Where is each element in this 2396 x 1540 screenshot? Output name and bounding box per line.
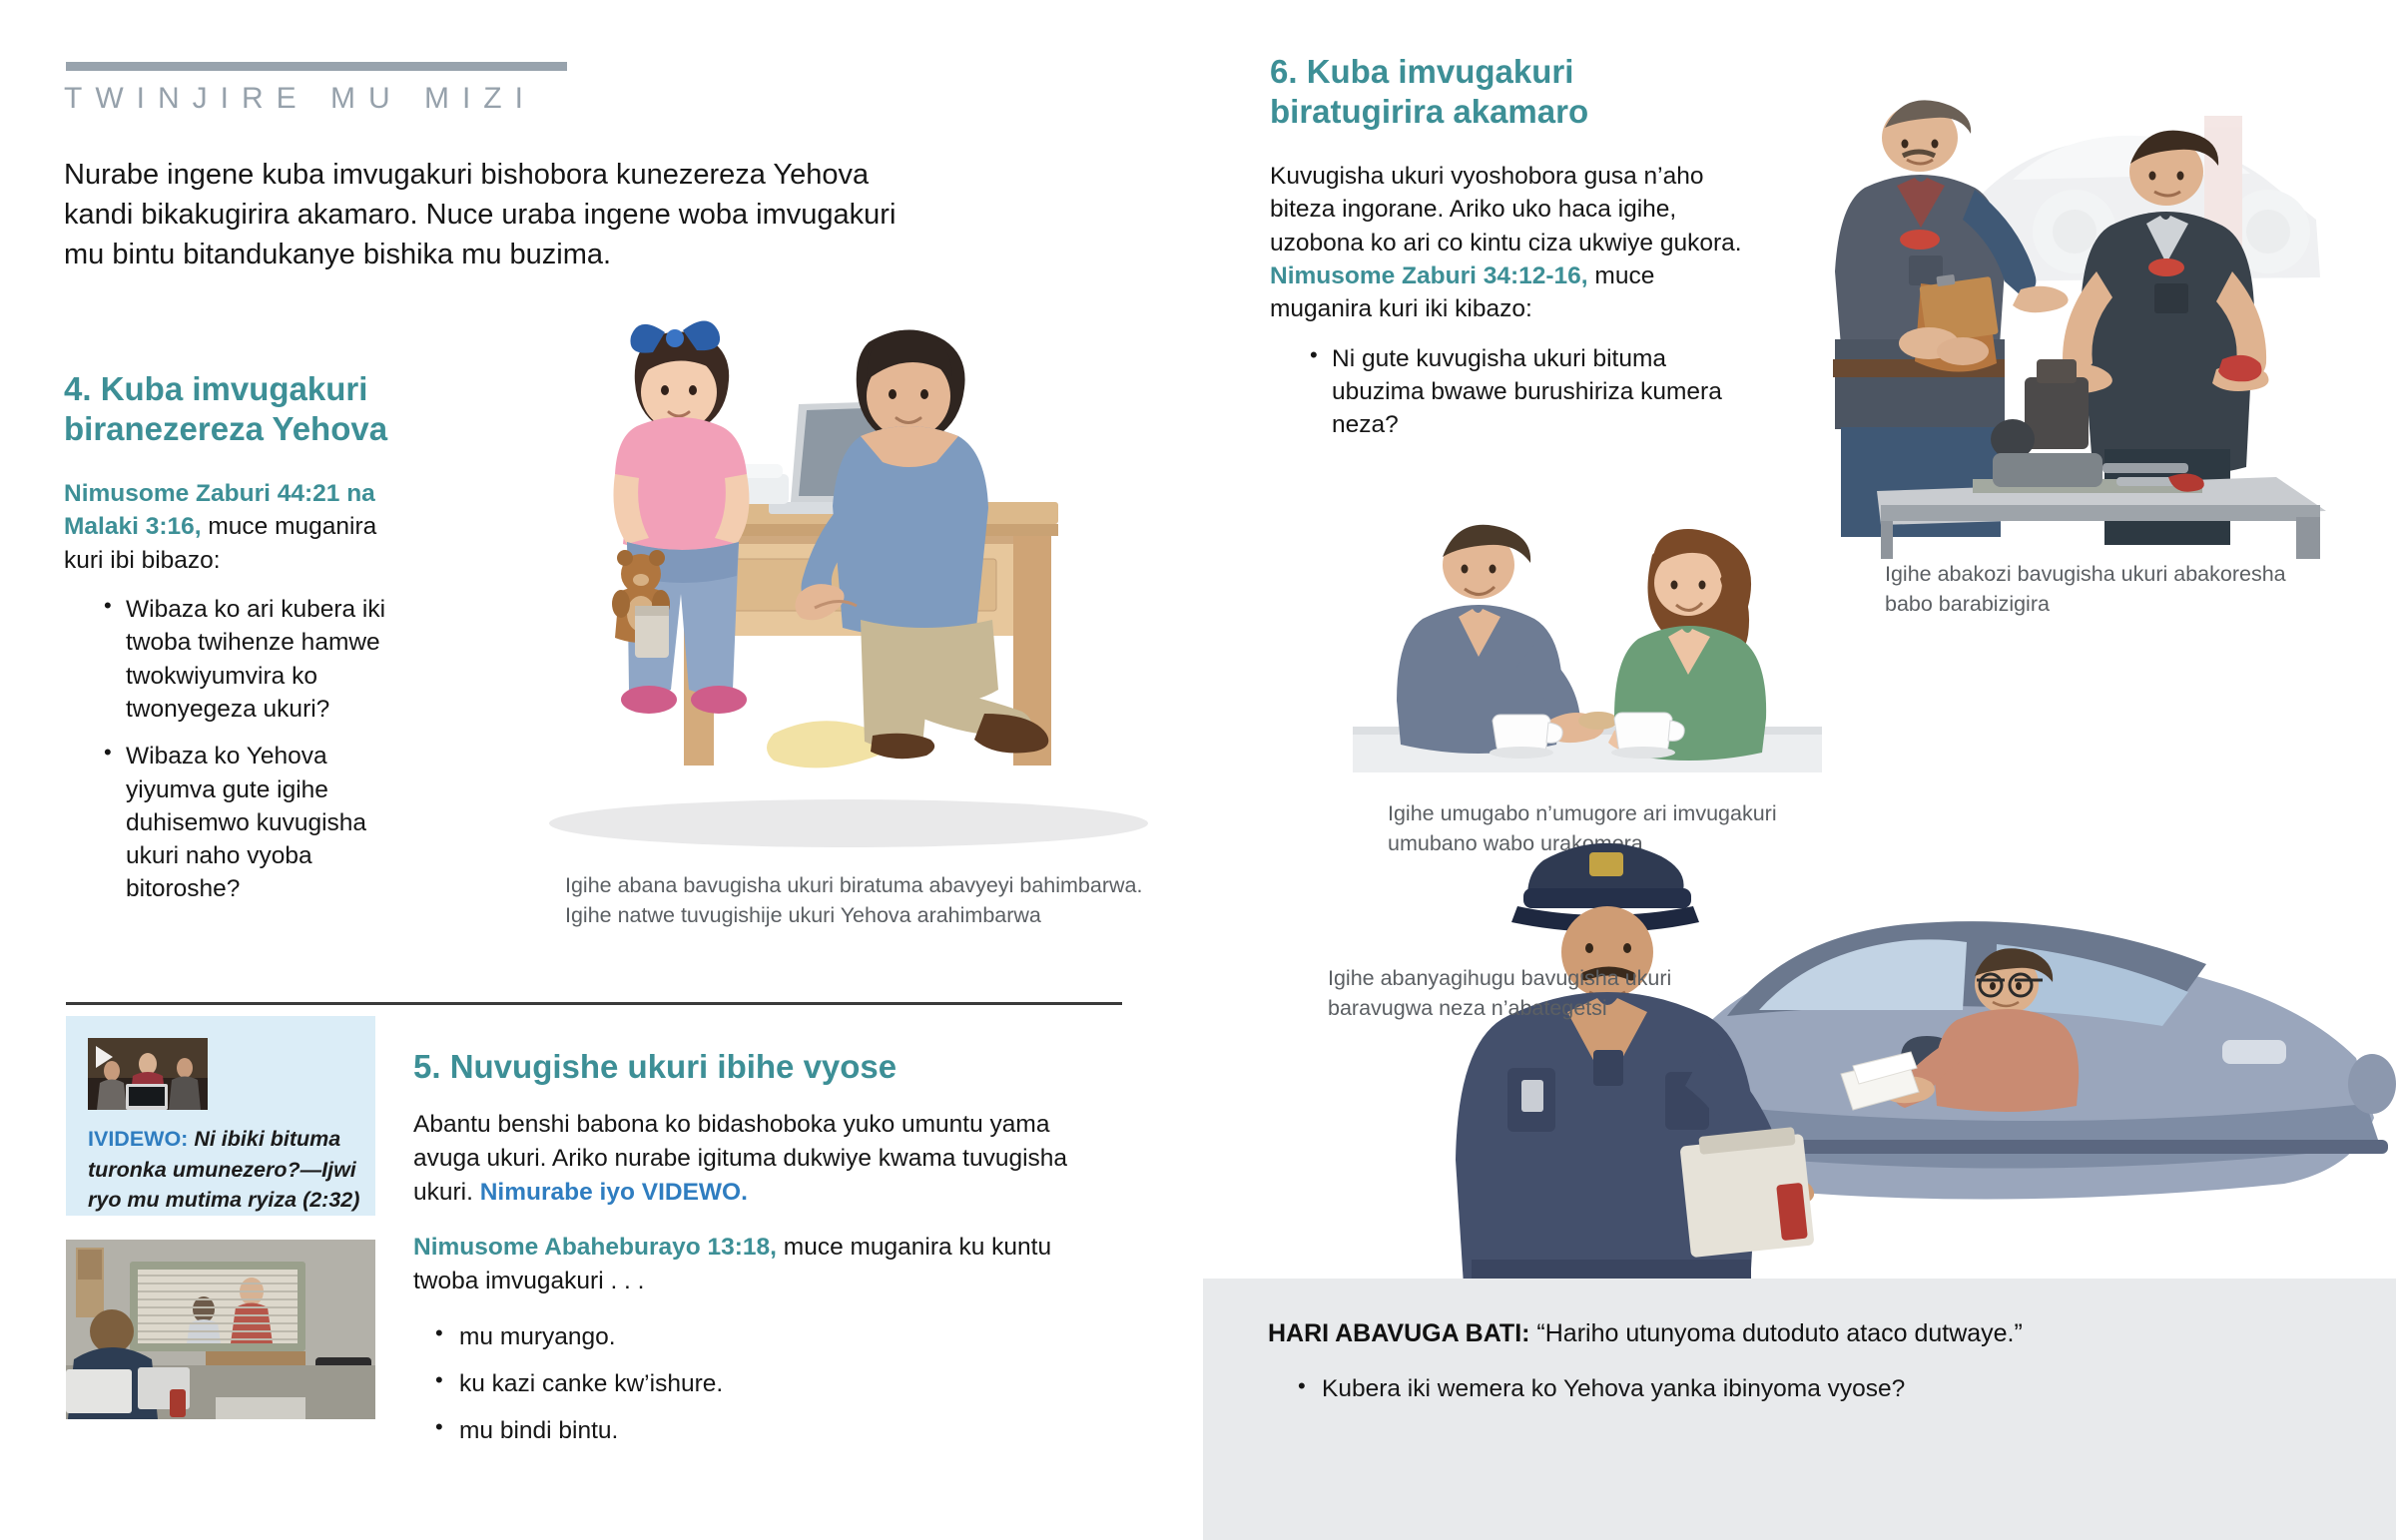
page-root: TWINJIRE MU MIZI Nurabe ingene kuba imvu… — [0, 0, 2396, 1540]
video-label: IVIDEWO: — [88, 1127, 188, 1151]
section-4-heading: 4. Kuba imvugakuri biranezereza Yehova — [64, 369, 413, 450]
objection-heading: HARI ABAVUGA BATI: “Hariho utunyoma duto… — [1268, 1319, 2346, 1348]
section-6-text-a: Kuvugisha ukuri vyoshobora gusa n’aho bi… — [1270, 163, 1742, 257]
kicker-rule — [66, 62, 567, 71]
illustration-child-and-father — [469, 225, 1168, 863]
list-item: ku kazi canke kw’ishure. — [435, 1367, 1122, 1401]
illustration-couple-at-table — [1353, 499, 1832, 778]
section-5-paragraph-2: Nimusome Abaheburayo 13:18, muce muganir… — [413, 1231, 1122, 1298]
illustration-police-and-driver — [1368, 788, 2396, 1307]
section-6-heading: 6. Kuba imvugakuri biratugirira akamaro — [1270, 52, 1649, 133]
caption-children-truth: Igihe abana bavugisha ukuri biratuma aba… — [565, 870, 1184, 930]
page-kicker: TWINJIRE MU MIZI — [64, 82, 536, 116]
section-divider — [66, 1002, 1122, 1005]
section-6-question-list: Ni gute kuvugisha ukuri bituma ubuzima b… — [1270, 342, 1749, 442]
list-item: Wibaza ko ari kubera iki twoba twihenze … — [104, 593, 403, 726]
list-item: Ni gute kuvugisha ukuri bituma ubuzima b… — [1310, 342, 1749, 442]
list-item: Kubera iki wemera ko Yehova yanka ibinyo… — [1298, 1375, 2346, 1403]
illustration-mechanics — [1817, 60, 2396, 559]
section-4-question-list: Wibaza ko ari kubera iki twoba twihenze … — [64, 593, 403, 906]
caption-employees-truth: Igihe abakozi bavugisha ukuri abakoresha… — [1885, 559, 2304, 619]
objection-list: Kubera iki wemera ko Yehova yanka ibinyo… — [1298, 1375, 2346, 1403]
section-5-paragraph-1: Abantu benshi babona ko bidashoboka yuko… — [413, 1108, 1122, 1209]
section-4-body: Nimusome Zaburi 44:21 na Malaki 3:16, mu… — [64, 477, 403, 920]
video-thumbnail[interactable] — [88, 1038, 208, 1110]
video-callout-box[interactable]: IVIDEWO: Ni ibiki bituma turonka umuneze… — [66, 1016, 375, 1216]
caption-citizens-truth: Igihe abanyagihugu bavugisha ukuri barav… — [1328, 963, 1757, 1023]
section-5-item-list: mu muryango. ku kazi canke kw’ishure. mu… — [413, 1320, 1122, 1447]
section-6-body: Kuvugisha ukuri vyoshobora gusa n’aho bi… — [1270, 160, 1749, 456]
play-icon — [96, 1046, 113, 1068]
video-still-office — [66, 1240, 375, 1419]
section-5-video-link[interactable]: Nimurabe iyo VIDEWO. — [480, 1179, 748, 1206]
video-caption: IVIDEWO: Ni ibiki bituma turonka umuneze… — [88, 1124, 365, 1216]
objection-label: HARI ABAVUGA BATI: — [1268, 1319, 1529, 1347]
list-item: mu muryango. — [435, 1320, 1122, 1354]
objection-question-list: Kubera iki wemera ko Yehova yanka ibinyo… — [1298, 1365, 2346, 1416]
section-6-scripture-ref[interactable]: Nimusome Zaburi 34:12-16, — [1270, 262, 1588, 289]
section-5-heading: 5. Nuvugishe ukuri ibihe vyose — [413, 1048, 897, 1086]
objection-quote: “Hariho utunyoma dutoduto ataco dutwaye.… — [1529, 1319, 2022, 1347]
section-5-body: Abantu benshi babona ko bidashoboka yuko… — [413, 1108, 1122, 1460]
section-5-scripture-ref[interactable]: Nimusome Abaheburayo 13:18, — [413, 1234, 777, 1261]
list-item: Wibaza ko Yehova yiyumva gute igihe duhi… — [104, 740, 403, 906]
list-item: mu bindi bintu. — [435, 1414, 1122, 1448]
